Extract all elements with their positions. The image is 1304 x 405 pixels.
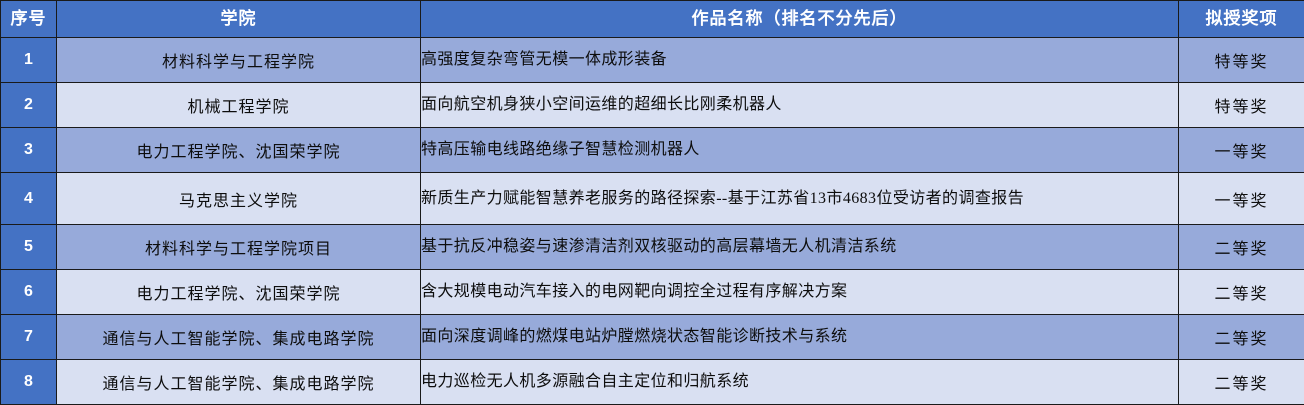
table-row: 5 材料科学与工程学院项目 基于抗反冲稳姿与速渗清洁剂双核驱动的高层幕墙无人机清… <box>1 225 1304 270</box>
row-college: 通信与人工智能学院、集成电路学院 <box>57 360 421 405</box>
row-work: 基于抗反冲稳姿与速渗清洁剂双核驱动的高层幕墙无人机清洁系统 <box>421 225 1179 270</box>
row-award: 一等奖 <box>1179 173 1304 225</box>
table-row: 4 马克思主义学院 新质生产力赋能智慧养老服务的路径探索--基于江苏省13市46… <box>1 173 1304 225</box>
row-award: 一等奖 <box>1179 128 1304 173</box>
row-college: 电力工程学院、沈国荣学院 <box>57 270 421 315</box>
award-list-table: 序号 学院 作品名称（排名不分先后） 拟授奖项 1 材料科学与工程学院 高强度复… <box>0 0 1304 405</box>
row-seq: 2 <box>1 83 57 128</box>
row-college: 电力工程学院、沈国荣学院 <box>57 128 421 173</box>
row-seq: 8 <box>1 360 57 405</box>
table-header: 序号 学院 作品名称（排名不分先后） 拟授奖项 <box>1 1 1304 38</box>
row-award: 二等奖 <box>1179 270 1304 315</box>
row-college: 材料科学与工程学院 <box>57 38 421 83</box>
row-seq: 7 <box>1 315 57 360</box>
row-award: 二等奖 <box>1179 360 1304 405</box>
column-header-college: 学院 <box>57 1 421 38</box>
row-college: 机械工程学院 <box>57 83 421 128</box>
row-seq: 5 <box>1 225 57 270</box>
column-header-work: 作品名称（排名不分先后） <box>421 1 1179 38</box>
row-work: 特高压输电线路绝缘子智慧检测机器人 <box>421 128 1179 173</box>
table-row: 8 通信与人工智能学院、集成电路学院 电力巡检无人机多源融合自主定位和归航系统 … <box>1 360 1304 405</box>
row-award: 二等奖 <box>1179 315 1304 360</box>
row-seq: 4 <box>1 173 57 225</box>
row-work: 面向深度调峰的燃煤电站炉膛燃烧状态智能诊断技术与系统 <box>421 315 1179 360</box>
row-college: 马克思主义学院 <box>57 173 421 225</box>
row-award: 二等奖 <box>1179 225 1304 270</box>
row-work: 面向航空机身狭小空间运维的超细长比刚柔机器人 <box>421 83 1179 128</box>
column-header-award: 拟授奖项 <box>1179 1 1304 38</box>
table-row: 7 通信与人工智能学院、集成电路学院 面向深度调峰的燃煤电站炉膛燃烧状态智能诊断… <box>1 315 1304 360</box>
header-row: 序号 学院 作品名称（排名不分先后） 拟授奖项 <box>1 1 1304 38</box>
table-row: 6 电力工程学院、沈国荣学院 含大规模电动汽车接入的电网靶向调控全过程有序解决方… <box>1 270 1304 315</box>
row-work: 含大规模电动汽车接入的电网靶向调控全过程有序解决方案 <box>421 270 1179 315</box>
row-award: 特等奖 <box>1179 83 1304 128</box>
table-row: 2 机械工程学院 面向航空机身狭小空间运维的超细长比刚柔机器人 特等奖 <box>1 83 1304 128</box>
table-body: 1 材料科学与工程学院 高强度复杂弯管无模一体成形装备 特等奖 2 机械工程学院… <box>1 38 1304 405</box>
row-seq: 6 <box>1 270 57 315</box>
table-row: 1 材料科学与工程学院 高强度复杂弯管无模一体成形装备 特等奖 <box>1 38 1304 83</box>
column-header-seq: 序号 <box>1 1 57 38</box>
table-row: 3 电力工程学院、沈国荣学院 特高压输电线路绝缘子智慧检测机器人 一等奖 <box>1 128 1304 173</box>
row-college: 材料科学与工程学院项目 <box>57 225 421 270</box>
row-college: 通信与人工智能学院、集成电路学院 <box>57 315 421 360</box>
row-work: 电力巡检无人机多源融合自主定位和归航系统 <box>421 360 1179 405</box>
row-work: 高强度复杂弯管无模一体成形装备 <box>421 38 1179 83</box>
row-seq: 1 <box>1 38 57 83</box>
row-seq: 3 <box>1 128 57 173</box>
row-award: 特等奖 <box>1179 38 1304 83</box>
row-work: 新质生产力赋能智慧养老服务的路径探索--基于江苏省13市4683位受访者的调查报… <box>421 173 1179 225</box>
